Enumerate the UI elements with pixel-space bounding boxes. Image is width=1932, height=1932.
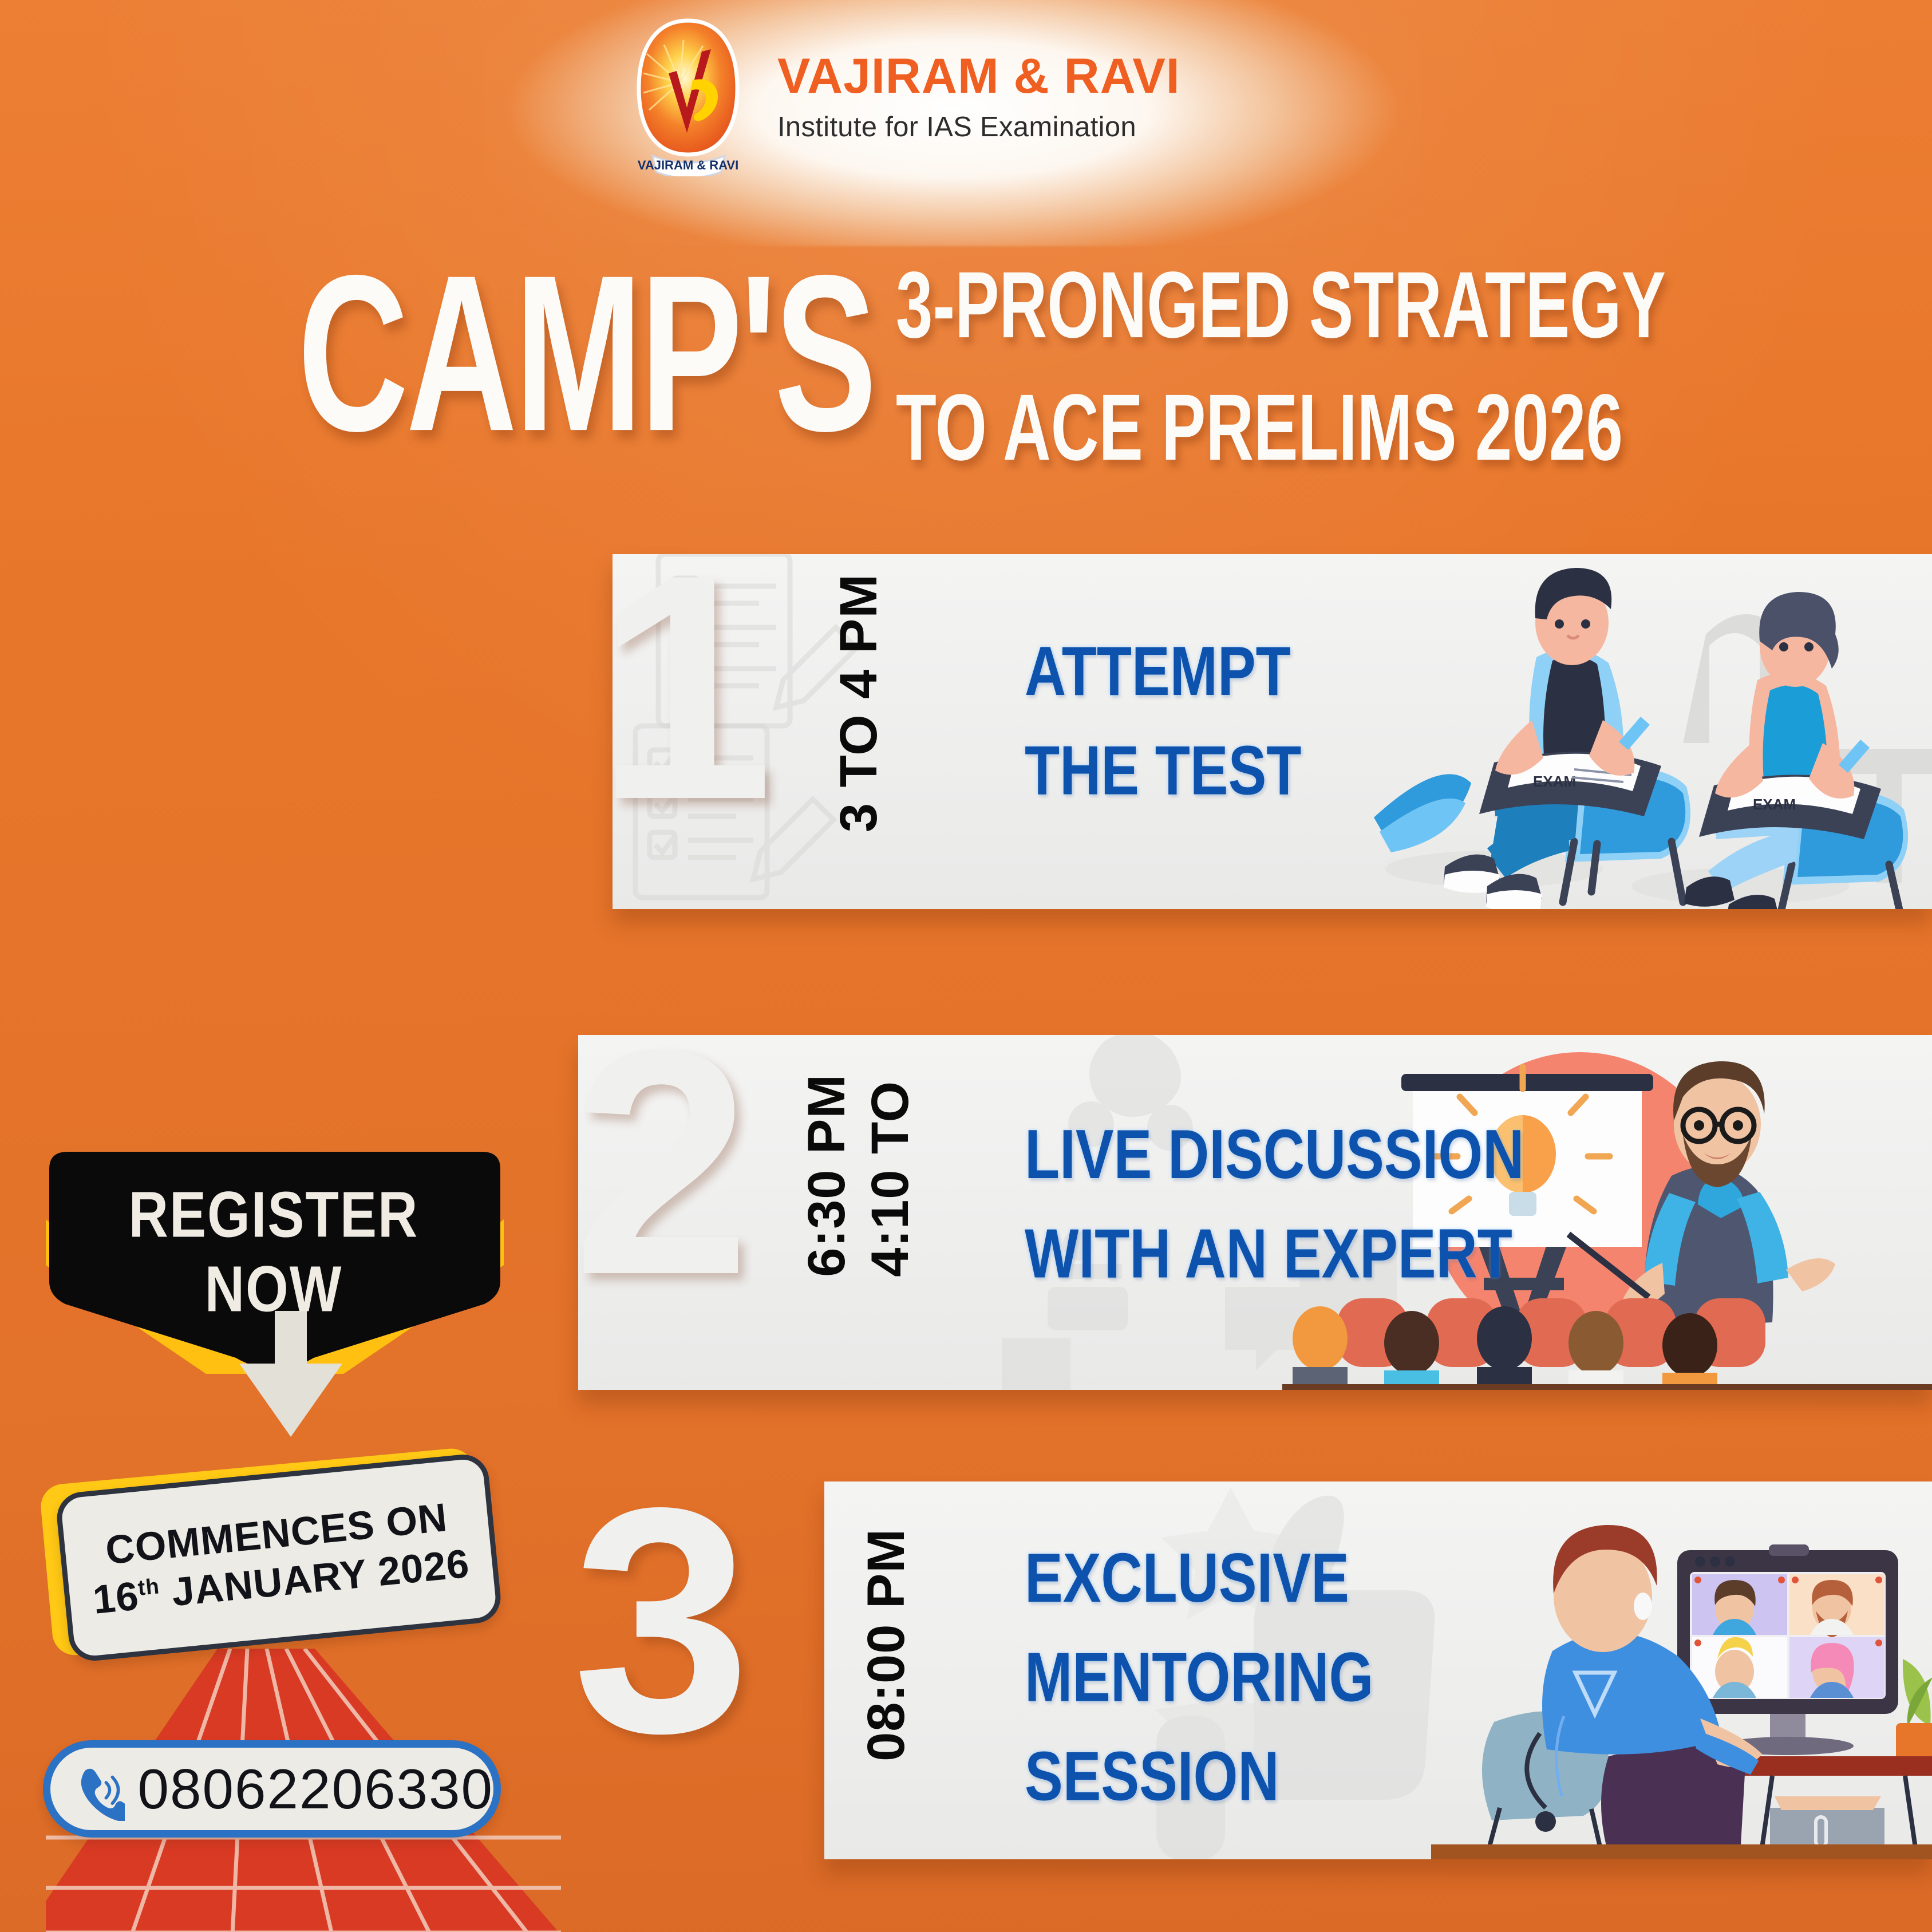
register-now-button[interactable]: REGISTER NOW bbox=[40, 1145, 509, 1443]
brand-tagline: Institute for IAS Examination bbox=[777, 111, 1180, 143]
poster-canvas: VAJIRAM & RAVI VAJIRAM & RAVI Institute … bbox=[0, 0, 1932, 1932]
step-time-line: 4:10 TO bbox=[860, 1074, 920, 1277]
step-title-line: LIVE DISCUSSION bbox=[1025, 1105, 1524, 1204]
step-time: 3 TO 4 PM bbox=[831, 574, 887, 832]
headline-lead: CAMP'S bbox=[298, 242, 875, 464]
step-title: EXCLUSIVE MENTORING SESSION bbox=[1025, 1528, 1373, 1826]
step-banner bbox=[824, 1481, 1932, 1859]
ringing-phone-icon bbox=[74, 1757, 125, 1821]
headline-line-1: 3-PRONGED STRATEGY bbox=[896, 258, 1666, 352]
step-title-line: SESSION bbox=[1025, 1726, 1373, 1826]
step-title-line: ATTEMPT bbox=[1025, 622, 1301, 721]
headline-line-2: TO ACE PRELIMS 2026 bbox=[896, 380, 1666, 475]
step-time-line: 6:30 PM bbox=[797, 1074, 857, 1277]
step-number: 3 bbox=[572, 1460, 742, 1780]
headline-right-block: 3-PRONGED STRATEGY TO ACE PRELIMS 2026 bbox=[896, 258, 1666, 447]
brand-name: VAJIRAM & RAVI bbox=[777, 52, 1180, 101]
date-ordinal: th bbox=[137, 1574, 161, 1600]
vajiram-ravi-flame-logo-icon: VAJIRAM & RAVI bbox=[624, 18, 752, 176]
step-title-line: WITH AN EXPERT bbox=[1025, 1204, 1524, 1303]
students-attempting-exam-illustration: EXAM bbox=[1305, 554, 1932, 909]
step-number: 2 bbox=[572, 1002, 742, 1322]
brand-text-block: VAJIRAM & RAVI Institute for IAS Examina… bbox=[777, 52, 1180, 143]
step-number: 1 bbox=[595, 527, 765, 847]
phone-number: 08062206330 bbox=[137, 1757, 493, 1822]
date-day: 16 bbox=[91, 1573, 141, 1622]
page-title: CAMP'S 3-PRONGED STRATEGY TO ACE PRELIMS… bbox=[0, 246, 1932, 475]
step-title-line: THE TEST bbox=[1025, 721, 1301, 820]
step-time: 08:00 PM bbox=[859, 1528, 914, 1761]
brand-logo: VAJIRAM & RAVI VAJIRAM & RAVI Institute … bbox=[624, 11, 1299, 183]
commencement-date-card: COMMENCES ON 16th JANUARY 2026 bbox=[52, 1445, 509, 1674]
step-row: EXAM bbox=[0, 538, 1932, 939]
online-video-call-mentoring-illustration bbox=[1431, 1487, 1932, 1859]
step-title-line: MENTORING bbox=[1025, 1627, 1373, 1726]
register-now-label: REGISTER NOW bbox=[85, 1178, 463, 1327]
exam-paper-label: EXAM bbox=[1753, 796, 1796, 813]
step-time: 4:10 TO 6:30 PM bbox=[797, 1074, 920, 1277]
phone-contact-badge[interactable]: 08062206330 bbox=[43, 1740, 501, 1838]
logo-ribbon-label: VAJIRAM & RAVI bbox=[638, 158, 738, 172]
step-title: ATTEMPT THE TEST bbox=[1025, 622, 1301, 820]
exam-paper-label: EXAM bbox=[1533, 773, 1576, 790]
step-title: LIVE DISCUSSION WITH AN EXPERT bbox=[1025, 1105, 1524, 1303]
step-title-line: EXCLUSIVE bbox=[1025, 1528, 1373, 1627]
